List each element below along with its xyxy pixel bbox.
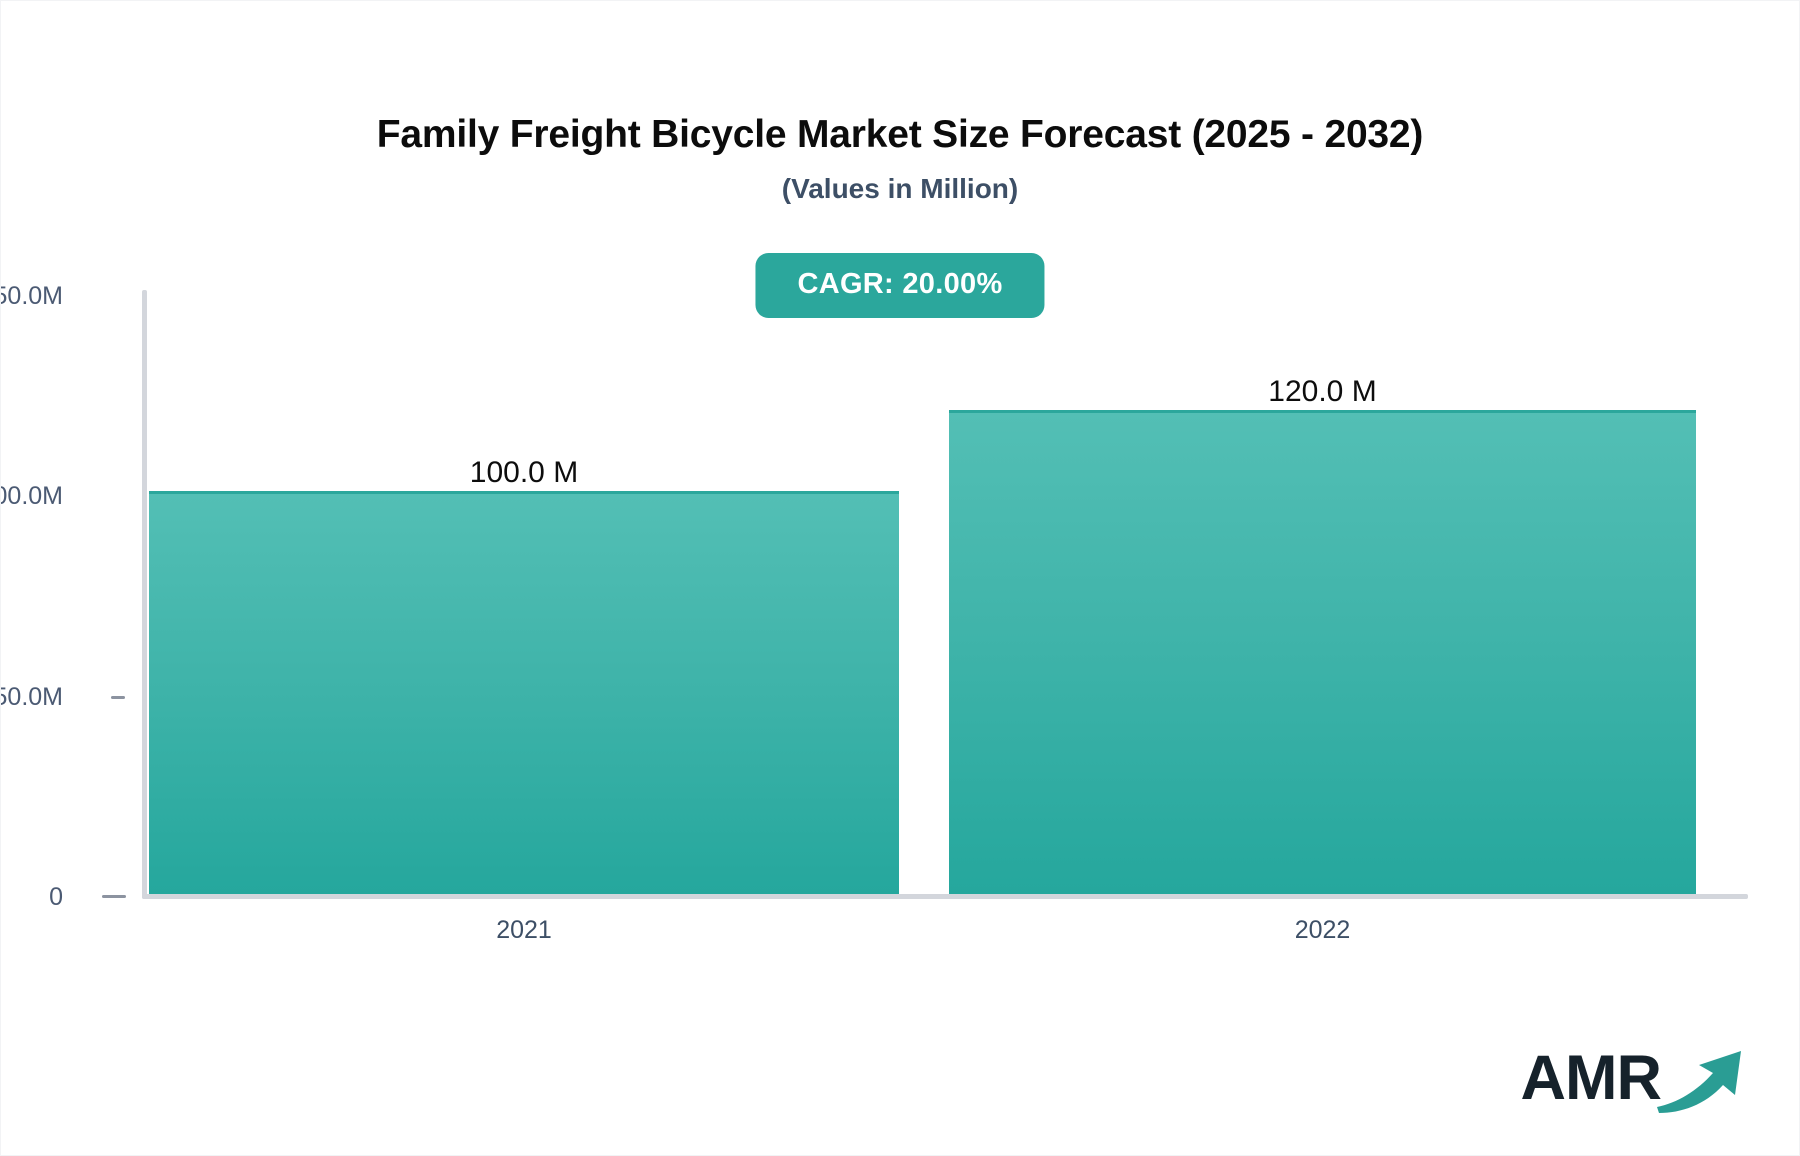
y-axis-tick-label-150: 150.0M [0, 282, 63, 311]
y-axis-tick-label-50: 50.0M [0, 683, 63, 712]
chart-canvas: Family Freight Bicycle Market Size Forec… [0, 0, 1800, 1156]
bar-2022[interactable] [949, 410, 1696, 894]
y-axis-tick-label-100: 100.0M [0, 482, 63, 511]
plot-area: 150.0M 100.0M 50.0M 0 100.0 M 120.0 M 20… [1, 1, 1800, 1156]
y-axis-tick-mark-0 [102, 895, 126, 898]
x-axis-tick-label-2021: 2021 [149, 916, 899, 945]
x-axis-tick-label-2022: 2022 [949, 916, 1696, 945]
bar-value-label-2022: 120.0 M [949, 375, 1696, 409]
bar-value-label-2021: 100.0 M [149, 456, 899, 490]
amr-logo-text: AMR [1521, 1047, 1661, 1110]
y-axis-line [142, 290, 147, 899]
y-axis-tick-mark-50 [111, 696, 125, 699]
amr-logo: AMR [1521, 1039, 1747, 1117]
y-axis-tick-label-0: 0 [49, 883, 63, 912]
trend-up-arrow-icon [1655, 1047, 1747, 1118]
bar-2021[interactable] [149, 491, 899, 894]
x-axis-line [142, 894, 1748, 899]
